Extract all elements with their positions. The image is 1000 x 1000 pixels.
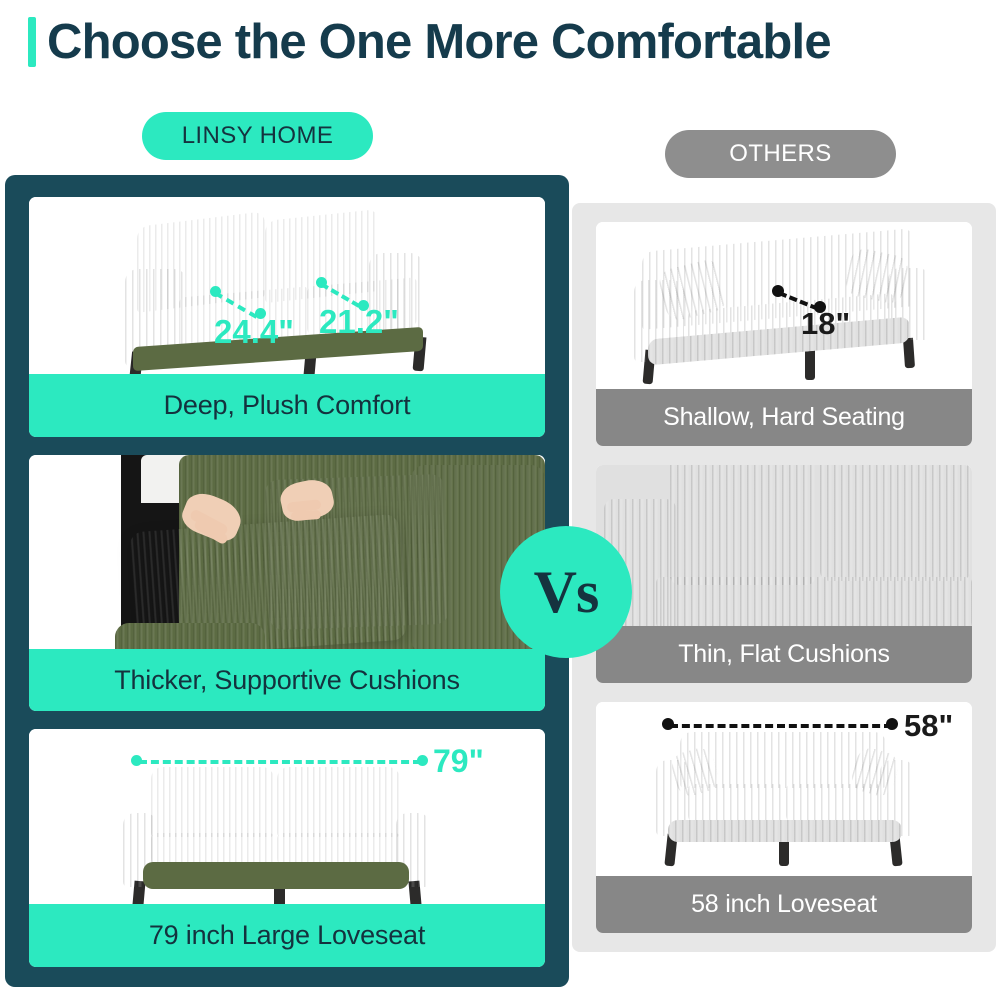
others-card-shallow-hard-seating: 18" Shallow, Hard Seating bbox=[596, 222, 972, 446]
others-column-badge: OTHERS bbox=[665, 130, 896, 178]
vs-badge: Vs bbox=[500, 526, 632, 658]
brand-sofa-angled-image: 24.4" 21.2" bbox=[29, 197, 545, 374]
page-header: Choose the One More Comfortable bbox=[0, 0, 1000, 96]
brand-column-badge: LINSY HOME bbox=[142, 112, 373, 160]
brand-column-frame: 24.4" 21.2" Deep, Plush Comfort bbox=[5, 175, 569, 987]
others-card-58-inch-loveseat: 58" 58 inch Loveseat bbox=[596, 702, 972, 933]
title-accent-bar bbox=[28, 17, 36, 67]
brand-card-79-inch-loveseat: 79" 79 inch bbox=[29, 729, 545, 967]
others-sofa-front-image: 58" bbox=[596, 702, 972, 876]
dim-line-58 bbox=[670, 724, 892, 728]
vs-badge-label: Vs bbox=[534, 562, 599, 622]
brand-card-thicker-cushions: Thicker, Supportive Cushions bbox=[29, 455, 545, 711]
brand-card-deep-plush-comfort: 24.4" 21.2" Deep, Plush Comfort bbox=[29, 197, 545, 437]
dim-label-width-brand: 79" bbox=[433, 745, 484, 777]
brand-cushion-closeup-image bbox=[29, 455, 545, 649]
brand-card-caption-2: Thicker, Supportive Cushions bbox=[29, 649, 545, 711]
brand-sofa-front-image: 79" bbox=[29, 729, 545, 904]
page-title: Choose the One More Comfortable bbox=[47, 8, 831, 76]
others-card-caption-1: Shallow, Hard Seating bbox=[596, 389, 972, 446]
dim-dot-end-58 bbox=[886, 718, 898, 730]
others-card-caption-3: 58 inch Loveseat bbox=[596, 876, 972, 933]
others-card-caption-2: Thin, Flat Cushions bbox=[596, 626, 972, 683]
dim-label-seat-depth-others: 18" bbox=[801, 308, 850, 339]
others-cushion-closeup-image bbox=[596, 465, 972, 626]
dim-label-seat-depth-brand-2: 21.2" bbox=[319, 305, 399, 338]
others-card-thin-flat-cushions: Thin, Flat Cushions bbox=[596, 465, 972, 683]
dim-label-width-others: 58" bbox=[904, 710, 953, 741]
dim-label-seat-depth-brand: 24.4" bbox=[214, 315, 294, 348]
brand-card-caption-3: 79 inch Large Loveseat bbox=[29, 904, 545, 967]
others-sofa-angled-image: 18" bbox=[596, 222, 972, 389]
brand-card-caption-1: Deep, Plush Comfort bbox=[29, 374, 545, 437]
dim-dot-end-79 bbox=[417, 755, 428, 766]
dim-line-79 bbox=[139, 760, 421, 764]
